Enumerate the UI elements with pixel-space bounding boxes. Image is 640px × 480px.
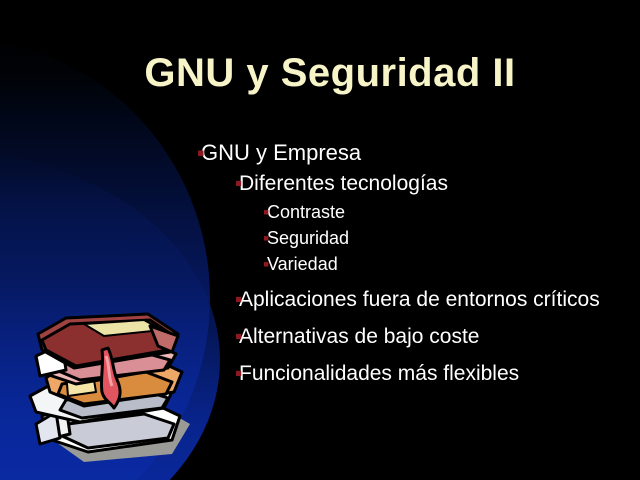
slide-title: GNU y Seguridad II [40,52,620,94]
presentation-slide: GNU y Seguridad II ▪ GNU y Empresa ▪ Dif… [0,0,640,480]
bullet-text: Diferentes tecnologías [235,169,617,198]
bullet-text: Contraste [263,199,617,225]
bullet-text: Seguridad [263,225,617,251]
bullet-text: GNU y Empresa [197,138,617,168]
bullet-marker-icon: ▪ [235,359,242,388]
bullet-marker-icon: ▪ [235,322,242,351]
bullet-level1-item[interactable]: ▪ GNU y Empresa [197,138,617,168]
stack-of-books-clipart [22,312,202,474]
bullet-level2-item[interactable]: ▪ Funcionalidades más flexibles [235,359,617,388]
bullet-text: Funcionalidades más flexibles [235,359,617,388]
bullet-text: Alternativas de bajo coste [235,322,617,351]
bullet-level2-item[interactable]: ▪ Aplicaciones fuera de entornos crítico… [235,285,617,314]
bullet-marker-icon: ▪ [263,225,269,251]
bullet-marker-icon: ▪ [235,285,242,314]
bullet-level3-item[interactable]: ▪ Variedad [263,251,617,277]
bullet-level3-item[interactable]: ▪ Contraste [263,199,617,225]
bullet-level2-item[interactable]: ▪ Alternativas de bajo coste [235,322,617,351]
bullet-marker-icon: ▪ [263,199,269,225]
slide-body-outline: ▪ GNU y Empresa ▪ Diferentes tecnologías… [197,138,617,389]
bullet-marker-icon: ▪ [197,138,205,168]
bullet-marker-icon: ▪ [235,169,242,198]
bullet-marker-icon: ▪ [263,251,269,277]
bullet-text: Aplicaciones fuera de entornos críticos [235,285,617,314]
bullet-level3-item[interactable]: ▪ Seguridad [263,225,617,251]
bullet-level2-item[interactable]: ▪ Diferentes tecnologías [235,169,617,198]
bullet-text: Variedad [263,251,617,277]
